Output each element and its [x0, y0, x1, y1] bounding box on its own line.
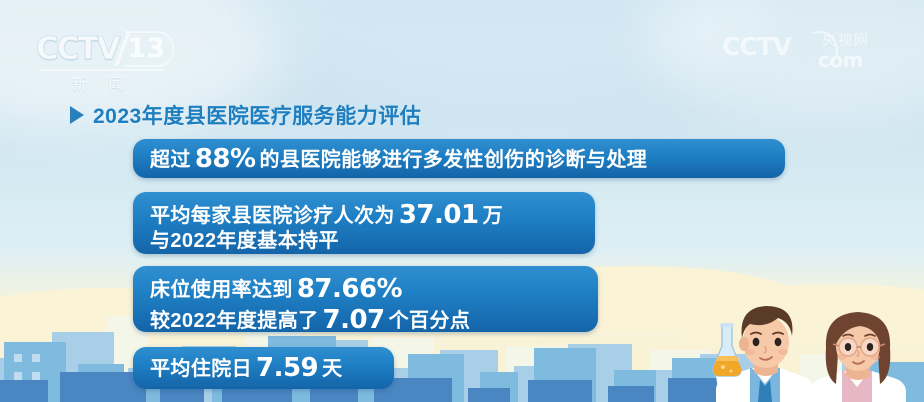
stat-number: 7.07 [319, 305, 389, 336]
stat-line: 平均每家县医院诊疗人次为37.01万 [150, 199, 578, 230]
logo-underline [40, 69, 164, 71]
female-doctor-with-glasses [810, 312, 906, 402]
stat-box-1: 超过88%的县医院能够进行多发性创伤的诊断与处理 [133, 139, 785, 178]
stat-line: 床位使用率达到87.66% [150, 273, 581, 304]
stat-text: 平均住院日 [150, 358, 252, 382]
channel-number: 13 [125, 31, 174, 67]
stat-line: 超过88%的县医院能够进行多发性创伤的诊断与处理 [150, 143, 647, 174]
stat-number: 87.66% [293, 274, 406, 305]
headline-text: 2023年度县医院医疗服务能力评估 [93, 100, 421, 130]
stat-line: 与2022年度基本持平 [150, 230, 578, 254]
two-doctors-illustration [694, 292, 924, 402]
stat-box-2: 平均每家县医院诊疗人次为37.01万与2022年度基本持平 [133, 192, 595, 254]
stat-number: 7.59 [252, 353, 322, 384]
channel-name-cn: 新 闻 [40, 73, 164, 94]
stat-box-3: 床位使用率达到87.66%较2022年度提高了7.07个百分点 [133, 266, 598, 332]
stat-number: 37.01 [395, 200, 483, 231]
stat-text: 平均每家县医院诊疗人次为 [150, 205, 395, 229]
stat-text: 较2022年度提高了 [150, 310, 319, 334]
stat-line: 平均住院日7.59天 [150, 352, 343, 383]
broadcast-graphic-stage: CCTV 13 新 闻 CCTV com 央视网 2023年度县医院医疗服务能力… [0, 0, 924, 402]
stat-box-4: 平均住院日7.59天 [133, 347, 394, 389]
stat-text: 超过 [150, 149, 191, 173]
watermark-com-text: com [818, 48, 863, 72]
watermark-cn-text: 央视网 [822, 30, 870, 50]
sky-haze-center [250, 0, 770, 100]
stat-line: 较2022年度提高了7.07个百分点 [150, 304, 581, 335]
stat-text: 的县医院能够进行多发性创伤的诊断与处理 [260, 149, 648, 173]
headline-banner: 2023年度县医院医疗服务能力评估 [70, 100, 421, 130]
stat-text: 个百分点 [389, 310, 471, 334]
cctv13-channel-logo: CCTV 13 新 闻 [36, 30, 174, 92]
cctv-com-watermark: CCTV com 央视网 [722, 34, 898, 74]
triangle-right-icon [70, 106, 84, 124]
cctv-logo-text: CCTV [36, 31, 119, 67]
stat-text: 床位使用率达到 [150, 279, 293, 303]
stat-text: 天 [322, 358, 342, 382]
orange-liquid-flask [713, 323, 741, 376]
stat-number: 88% [191, 144, 260, 175]
stat-text: 万 [483, 205, 503, 229]
stat-text: 与2022年度基本持平 [150, 230, 339, 254]
